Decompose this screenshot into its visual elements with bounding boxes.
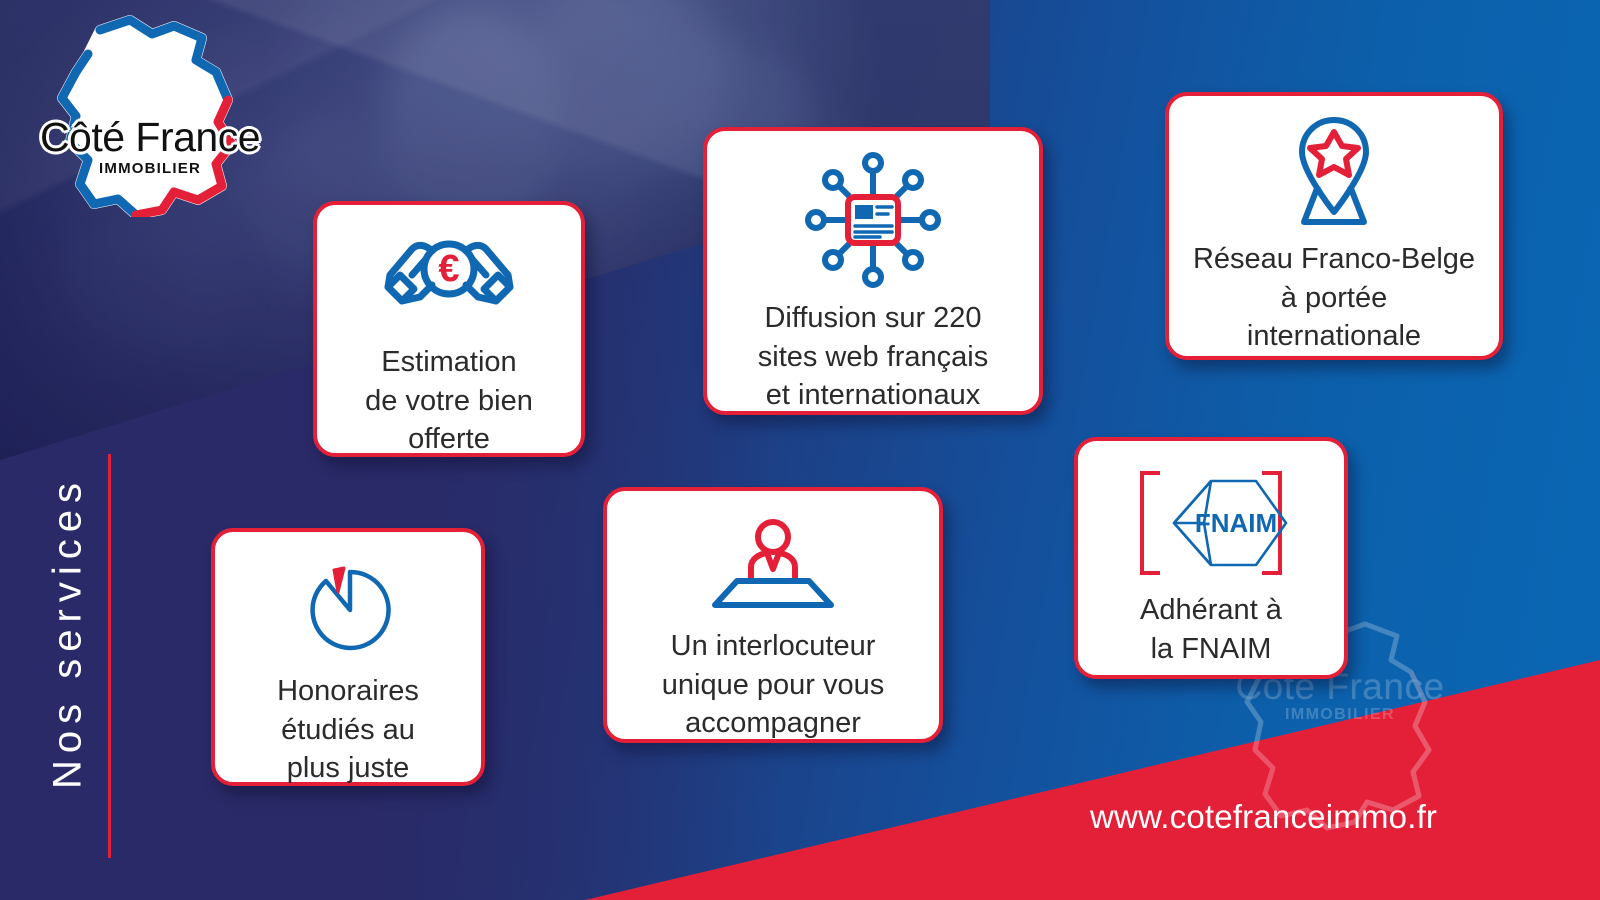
service-card-label: Diffusion sur 220 sites web français et … — [758, 299, 989, 415]
service-card-honoraires[interactable]: Honoraires étudiés au plus juste — [211, 528, 485, 786]
service-card-fnaim[interactable]: FNAIM Adhérant à la FNAIM — [1074, 437, 1348, 679]
service-card-interlocuteur[interactable]: Un interlocuteur unique pour vous accomp… — [603, 487, 943, 743]
service-card-label: Un interlocuteur unique pour vous accomp… — [662, 627, 885, 743]
map-pin-star-icon — [1274, 112, 1394, 230]
brand-logo[interactable]: Côté France IMMOBILIER — [30, 12, 270, 217]
section-title-rule — [108, 454, 111, 858]
svg-text:€: € — [438, 248, 459, 290]
service-card-estimation[interactable]: € Estimation de votre bien offerte — [313, 201, 585, 457]
service-card-label: Honoraires étudiés au plus juste — [277, 672, 419, 788]
section-title-text: Nos services — [46, 443, 91, 823]
brand-logo-sub: IMMOBILIER — [30, 160, 270, 177]
website-url[interactable]: www.cotefranceimmo.fr — [1090, 798, 1437, 836]
service-card-diffusion[interactable]: Diffusion sur 220 sites web français et … — [703, 127, 1043, 415]
pie-chart-icon — [300, 562, 396, 654]
fnaim-logo-text: FNAIM — [1195, 508, 1277, 538]
person-desk-icon — [707, 517, 839, 609]
service-card-label: Adhérant à la FNAIM — [1140, 591, 1282, 668]
service-card-label: Estimation de votre bien offerte — [365, 343, 533, 459]
service-card-label: Réseau Franco-Belge à portée internation… — [1193, 240, 1475, 356]
service-card-reseau[interactable]: Réseau Franco-Belge à portée internation… — [1165, 92, 1503, 360]
fnaim-logo-icon: FNAIM — [1116, 463, 1306, 583]
brand-logo-name: Côté France — [30, 114, 270, 161]
poster-canvas: Côté France IMMOBILIER Côté France IMMOB… — [0, 0, 1600, 900]
network-broadcast-icon — [800, 147, 946, 293]
hands-euro-icon: € — [374, 229, 524, 329]
